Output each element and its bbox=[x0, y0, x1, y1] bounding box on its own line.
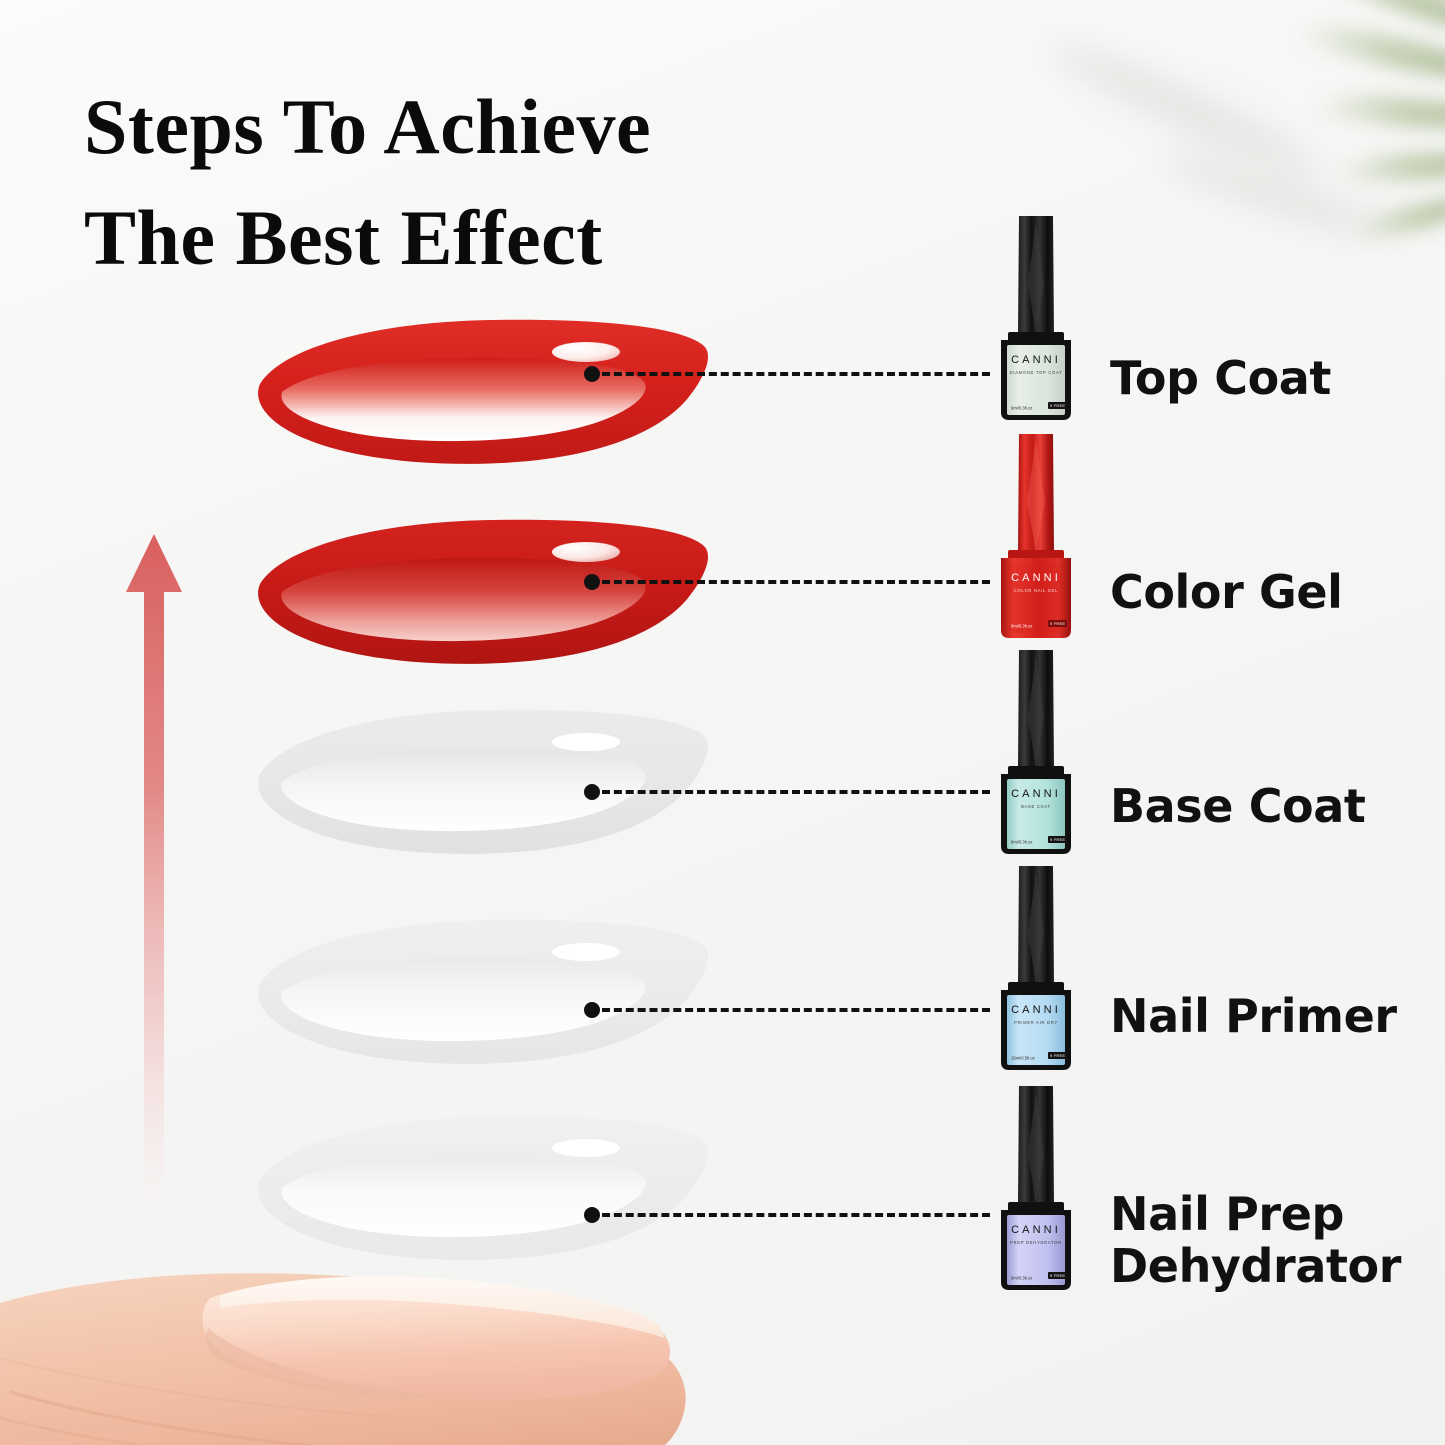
bottle-nail-prep-dehydrator[interactable]: CANNI PREP DEHYDRATOR 9ml/0.3fl.oz 9 FRE… bbox=[984, 1084, 1088, 1292]
bottle-badge: 9 FREE bbox=[1048, 402, 1067, 409]
leader-dot bbox=[584, 366, 600, 382]
bottle-volume: 9ml/0.3fl.oz bbox=[1011, 407, 1032, 411]
bottle-brand: CANNI bbox=[984, 788, 1088, 800]
bottle-volume: 9ml/0.3fl.oz bbox=[1011, 841, 1032, 845]
step-label-color-gel: Color Gel bbox=[1110, 566, 1343, 618]
leader-line-nail-prep-dehydrator bbox=[584, 1208, 990, 1222]
step-label-top-coat: Top Coat bbox=[1110, 352, 1331, 404]
step-label-nail-prep-dehydrator: Nail Prep Dehydrator bbox=[1110, 1188, 1401, 1293]
bottle-badge: 9 FREE bbox=[1048, 1052, 1067, 1059]
bottle-brand: CANNI bbox=[984, 1004, 1088, 1016]
leader-dash bbox=[602, 372, 990, 376]
leader-dash bbox=[602, 1213, 990, 1217]
page-title: Steps To Achieve The Best Effect bbox=[84, 72, 884, 294]
bottle-base-coat[interactable]: CANNI BASE COAT 9ml/0.3fl.oz 9 FREE bbox=[984, 648, 1088, 856]
leader-line-base-coat bbox=[584, 785, 990, 799]
bottle-nail-primer[interactable]: CANNI PRIMER AIR DRY 15ml/0.5fl.oz 9 FRE… bbox=[984, 864, 1088, 1072]
bottle-badge: 9 FREE bbox=[1048, 620, 1067, 627]
upward-arrow-icon bbox=[118, 530, 190, 1250]
leader-dash bbox=[602, 1008, 990, 1012]
nail-layer-top-coat bbox=[252, 312, 722, 477]
bottle-badge: 9 FREE bbox=[1048, 1272, 1067, 1279]
leader-dot bbox=[584, 574, 600, 590]
bottle-product: BASE COAT bbox=[993, 805, 1078, 810]
bottle-product: COLOR NAIL GEL bbox=[993, 589, 1078, 594]
nail-layer-color-gel bbox=[252, 512, 722, 677]
leader-line-color-gel bbox=[584, 575, 990, 589]
page-title-line-2: The Best Effect bbox=[84, 183, 884, 294]
leader-line-top-coat bbox=[584, 367, 990, 381]
infographic-canvas: Steps To Achieve The Best Effect bbox=[0, 0, 1445, 1445]
bottle-volume: 9ml/0.3fl.oz bbox=[1011, 1277, 1032, 1281]
page-title-line-1: Steps To Achieve bbox=[84, 72, 884, 183]
bottle-brand: CANNI bbox=[984, 1224, 1088, 1236]
bottle-brand: CANNI bbox=[984, 572, 1088, 584]
bottle-top-coat[interactable]: CANNI DIAMOND TOP COAT 9ml/0.3fl.oz 9 FR… bbox=[984, 214, 1088, 422]
bottle-color-gel[interactable]: CANNI COLOR NAIL GEL 9ml/0.3fl.oz 9 FREE bbox=[984, 432, 1088, 640]
leader-line-nail-primer bbox=[584, 1003, 990, 1017]
bottle-brand: CANNI bbox=[984, 354, 1088, 366]
bottle-product: PREP DEHYDRATOR bbox=[993, 1241, 1078, 1246]
bottle-product: DIAMOND TOP COAT bbox=[993, 371, 1078, 376]
leader-dot bbox=[584, 1002, 600, 1018]
bottle-product: PRIMER AIR DRY bbox=[993, 1021, 1078, 1026]
leader-dash bbox=[602, 580, 990, 584]
bottle-volume: 9ml/0.3fl.oz bbox=[1011, 625, 1032, 629]
nail-layer-nail-primer bbox=[252, 912, 722, 1077]
step-label-nail-primer: Nail Primer bbox=[1110, 990, 1397, 1042]
leader-dash bbox=[602, 790, 990, 794]
leader-dot bbox=[584, 784, 600, 800]
bottle-volume: 15ml/0.5fl.oz bbox=[1011, 1057, 1035, 1061]
leader-dot bbox=[584, 1207, 600, 1223]
palm-leaf-icon bbox=[1025, 0, 1445, 270]
bottle-badge: 9 FREE bbox=[1048, 836, 1067, 843]
step-label-base-coat: Base Coat bbox=[1110, 780, 1366, 832]
nail-layer-nail-prep-dehydrator bbox=[252, 1108, 722, 1273]
